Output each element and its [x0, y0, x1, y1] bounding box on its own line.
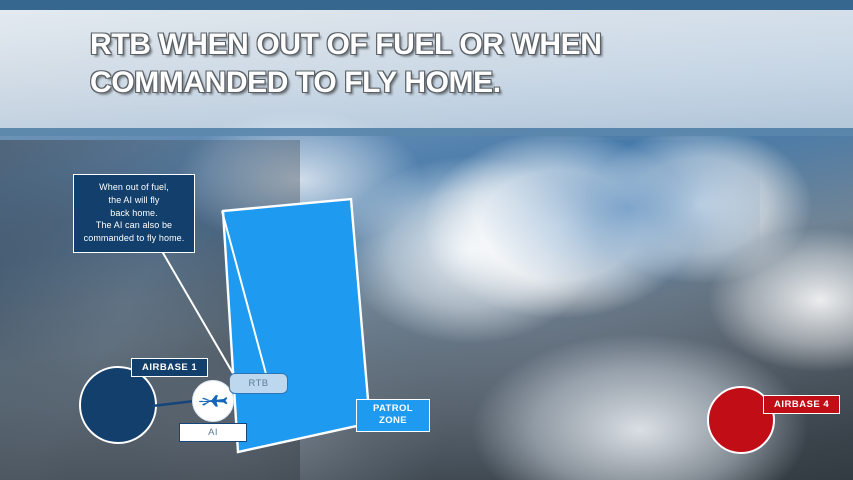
slide-canvas: RTB WHEN OUT OF FUEL OR WHEN COMMANDED T… — [0, 0, 853, 480]
label-rtb[interactable]: RTB — [229, 373, 288, 394]
patrol-zone-polygon[interactable] — [223, 199, 370, 452]
fighter-jet-icon — [192, 380, 234, 422]
ai-jet-marker[interactable] — [192, 380, 234, 422]
airbase-1-marker[interactable] — [80, 367, 156, 443]
label-patrol-zone[interactable]: PATROL ZONE — [356, 399, 430, 432]
label-airbase-4[interactable]: AIRBASE 4 — [763, 395, 840, 414]
note-callout: When out of fuel, the AI will fly back h… — [73, 174, 195, 253]
label-ai[interactable]: AI — [179, 423, 247, 442]
label-airbase-1[interactable]: AIRBASE 1 — [131, 358, 208, 377]
